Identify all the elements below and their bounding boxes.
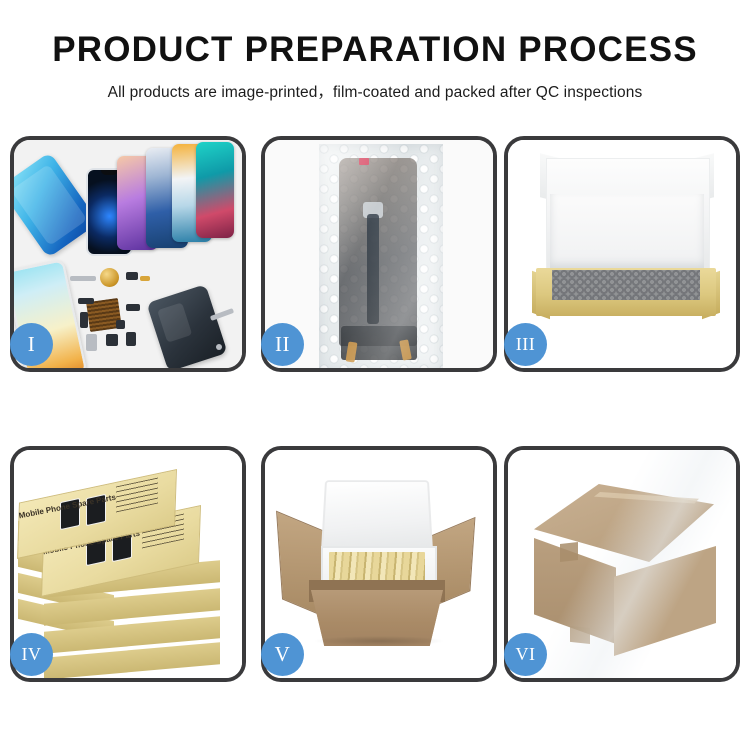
process-step-panel-4: Mobile Phone Spare Parts Mobile Phone Sp… bbox=[10, 446, 246, 682]
step-badge-4: IV bbox=[10, 633, 53, 676]
page-subtitle: All products are image-printed，film-coat… bbox=[0, 80, 750, 102]
white-foam-sheet bbox=[550, 194, 704, 268]
step-badge-5: V bbox=[261, 633, 304, 676]
process-step-panel-1: I bbox=[10, 136, 246, 372]
camera-part bbox=[126, 332, 136, 346]
process-step-grid: I II bbox=[10, 136, 742, 682]
spare-part-flex bbox=[78, 298, 94, 304]
grey-foam-insert bbox=[552, 270, 700, 300]
carton-shadow bbox=[315, 636, 443, 646]
step-badge-3: III bbox=[504, 323, 547, 366]
spare-part-cable bbox=[126, 304, 140, 311]
sim-tray-part bbox=[86, 334, 97, 351]
process-step-panel-6: VI bbox=[504, 446, 740, 682]
process-step-panel-5: V bbox=[261, 446, 497, 682]
spare-part-chip bbox=[126, 272, 138, 280]
step-badge-1: I bbox=[10, 323, 53, 366]
bubble-wrap-bag bbox=[319, 144, 443, 368]
spare-part-gold bbox=[140, 276, 150, 281]
page-title: PRODUCT PREPARATION PROCESS bbox=[0, 32, 750, 69]
screw-part bbox=[216, 344, 222, 350]
step-badge-2: II bbox=[261, 323, 304, 366]
spare-part-strip bbox=[70, 276, 96, 281]
phone-teal bbox=[196, 142, 234, 238]
process-step-panel-2: II bbox=[261, 136, 497, 372]
plastic-sheen bbox=[319, 144, 443, 368]
process-step-panel-3: III bbox=[504, 136, 740, 372]
copper-coil-part bbox=[100, 268, 119, 287]
foam-box-lid-open bbox=[321, 480, 433, 554]
spare-part-button bbox=[116, 320, 125, 329]
step-badge-6: VI bbox=[504, 633, 547, 676]
spare-part-small bbox=[80, 312, 88, 328]
speaker-part bbox=[106, 334, 118, 346]
page-header: PRODUCT PREPARATION PROCESS All products… bbox=[0, 0, 750, 102]
